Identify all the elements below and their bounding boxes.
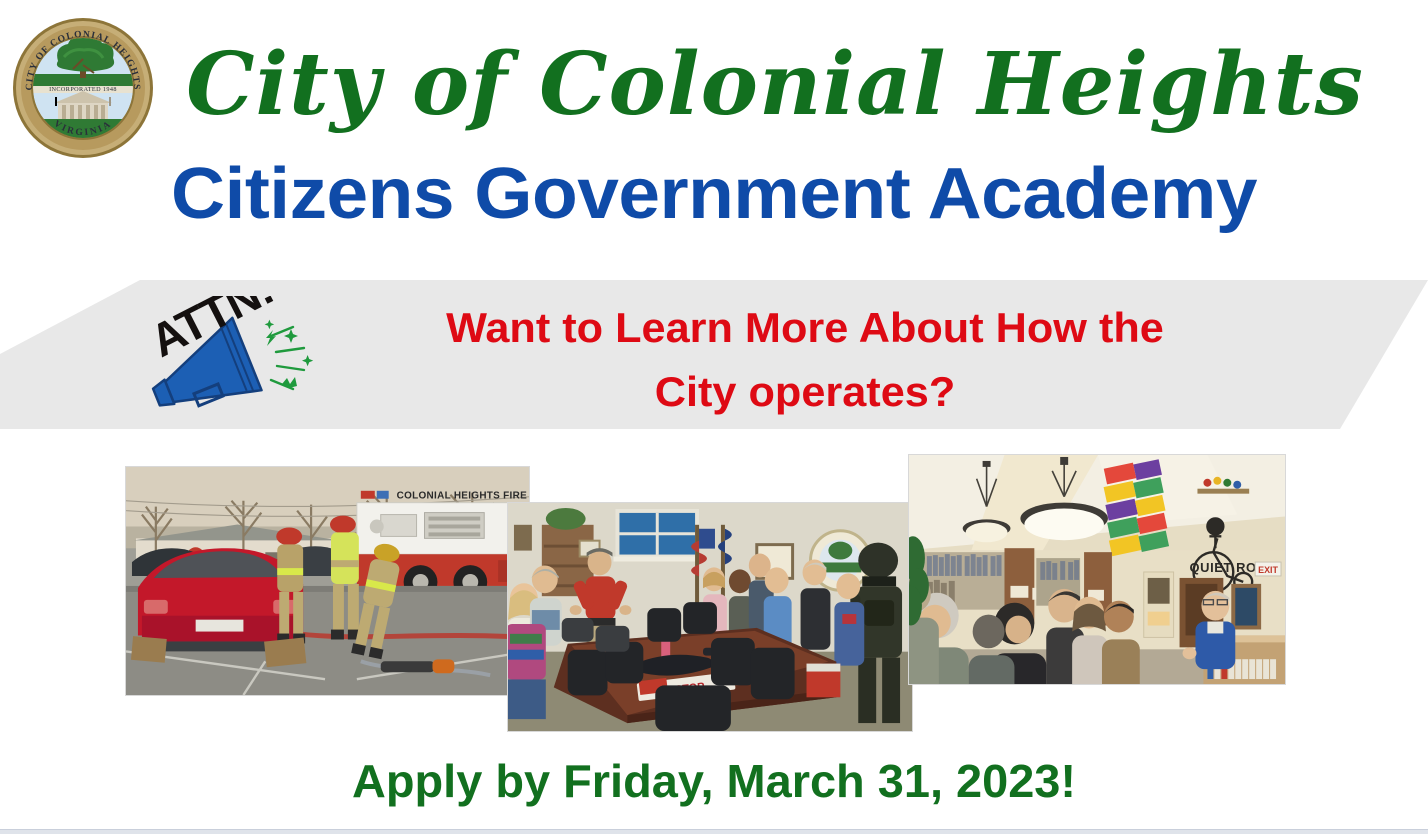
page-subtitle: Citizens Government Academy [0,158,1428,230]
flyer-page: CITY OF COLONIAL HEIGHTS VIRGINIA INCORP… [0,0,1428,834]
svg-text:EXIT: EXIT [1258,565,1278,575]
photo-fire-extrication: COLONIAL HEIGHTS FIRE & EMS [125,466,530,696]
svg-text:COLONIAL HEIGHTS FIRE & EMS: COLONIAL HEIGHTS FIRE & EMS [397,491,529,502]
city-seal: CITY OF COLONIAL HEIGHTS VIRGINIA INCORP… [12,17,154,159]
apply-deadline-text: Apply by Friday, March 31, 2023! [0,758,1428,804]
svg-text:INCORPORATED 1948: INCORPORATED 1948 [49,86,117,93]
banner-headline: Want to Learn More About How the City op… [316,296,1295,424]
banner-headline-line1: Want to Learn More About How the [316,296,1295,360]
page-bottom-edge [0,829,1428,834]
photo-police-briefing: STOP [507,502,913,732]
page-title-script: City of Colonial Heights [160,42,1390,128]
photo-library-tour: QUIET ROOM EXIT [908,454,1286,685]
banner-headline-line2: City operates? [316,360,1295,424]
megaphone-icon: ATTN! [143,296,318,418]
